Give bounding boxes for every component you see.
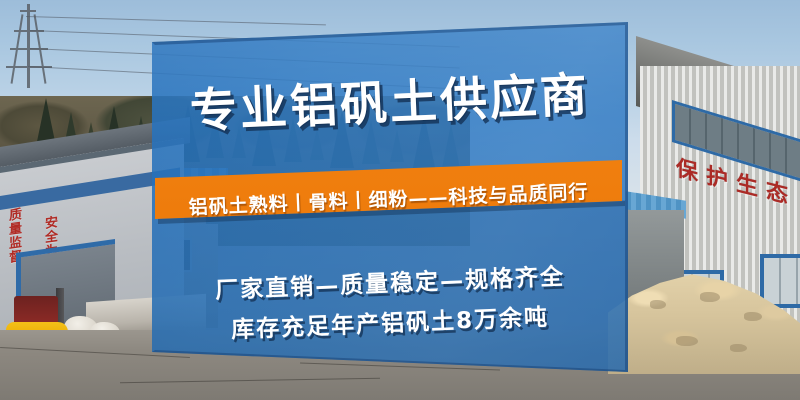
bauxite-rock [700, 292, 720, 302]
bauxite-rock [730, 344, 747, 352]
bauxite-rock [650, 300, 666, 309]
bauxite-rock [676, 336, 698, 346]
bauxite-supplier-banner: 质量监督 安全为首 保护生态 [0, 0, 800, 400]
bauxite-rock [744, 312, 762, 321]
